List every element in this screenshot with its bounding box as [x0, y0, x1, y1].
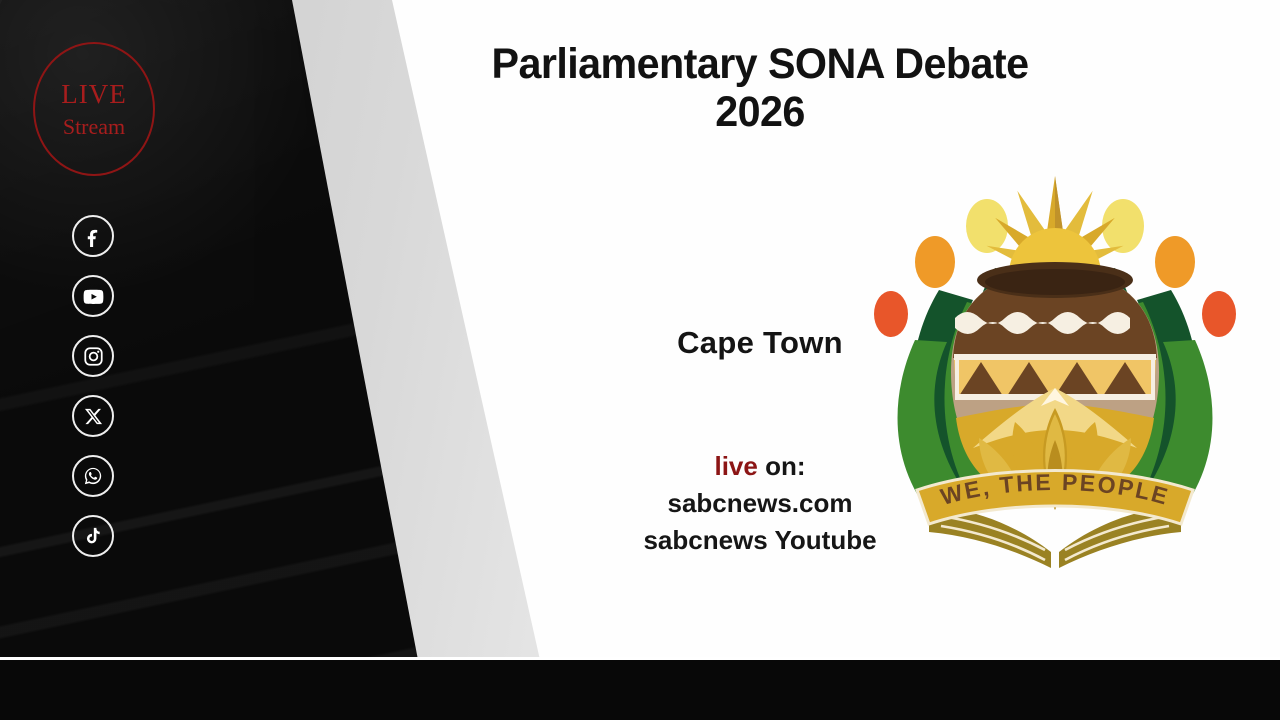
page-title: Parliamentary SONA Debate 2026: [443, 40, 1077, 136]
social-media-rail: [72, 215, 114, 557]
tiktok-icon[interactable]: [72, 515, 114, 557]
live-badge-line-1: LIVE: [61, 79, 126, 110]
x-twitter-icon[interactable]: [72, 395, 114, 437]
facebook-icon[interactable]: [72, 215, 114, 257]
whatsapp-icon[interactable]: [72, 455, 114, 497]
youtube-icon[interactable]: [72, 275, 114, 317]
parliament-emblem: WE, THE PEOPLE: [855, 172, 1255, 572]
watch-on-word: on:: [758, 451, 806, 481]
live-stream-badge: LIVE Stream: [33, 42, 155, 176]
watch-live-word: live: [714, 451, 757, 481]
instagram-icon[interactable]: [72, 335, 114, 377]
broadcast-lower-third-graphic: LIVE Stream: [0, 0, 1280, 720]
footer-bar: sabcnews.com SABC NEWS Independent. Impa…: [0, 660, 1280, 720]
live-badge-line-2: Stream: [63, 114, 125, 139]
